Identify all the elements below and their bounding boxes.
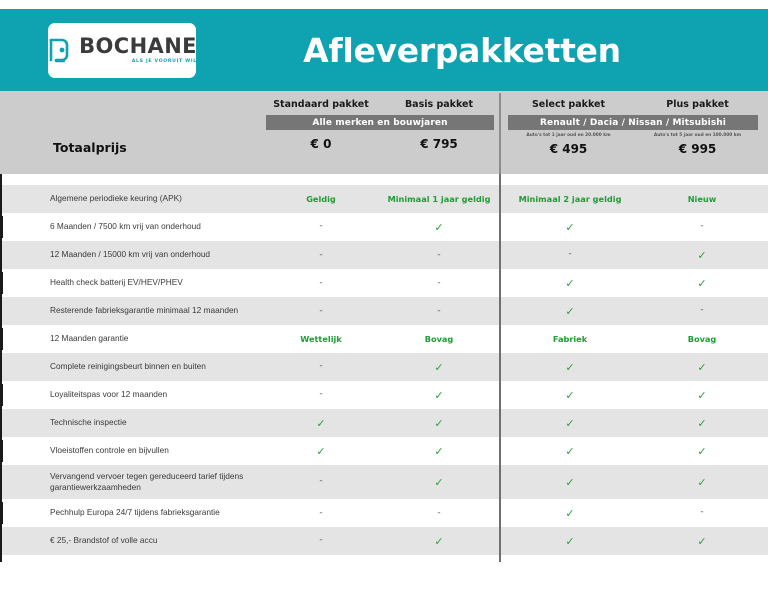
- row-cells-left-group: ✓✓: [262, 417, 498, 430]
- table-cell: -: [262, 250, 380, 260]
- table-cell: ✓: [636, 476, 768, 489]
- row-cells-right-group: ✓✓: [504, 445, 768, 458]
- table-cell: -: [262, 278, 380, 288]
- table-cell: -: [380, 306, 498, 316]
- table-row: Pechhulp Europa 24/7 tijdens fabrieksgar…: [0, 499, 768, 527]
- table-cell: -: [262, 389, 380, 402]
- row-cells-left-group: -✓: [262, 535, 498, 548]
- table-cell: -: [380, 278, 498, 288]
- table-cell: -: [262, 361, 380, 374]
- table-cell: -: [504, 249, 636, 262]
- row-label: Resterende fabrieksgarantie minimaal 12 …: [0, 305, 262, 316]
- table-cell: ✓: [504, 445, 636, 458]
- column-price-select: € 495: [504, 142, 633, 156]
- table-cell: -: [262, 535, 380, 548]
- row-cells-right-group: ✓-: [504, 305, 768, 318]
- table-group-divider: [499, 174, 501, 562]
- table-cell: ✓: [380, 389, 498, 402]
- table-cell: ✓: [636, 535, 768, 548]
- row-label: Vervangend vervoer tegen gereduceerd tar…: [0, 471, 262, 493]
- group-bar-right: Renault / Dacia / Nissan / Mitsubishi: [508, 115, 758, 130]
- column-title-plus: Plus pakket: [633, 91, 762, 110]
- row-cells-left-group: --: [262, 508, 498, 518]
- column-price-plus: € 995: [633, 142, 762, 156]
- row-cells-right-group: ✓✓: [504, 417, 768, 430]
- table-cell: -: [380, 250, 498, 260]
- row-cells-left-group: --: [262, 306, 498, 316]
- table-row: Resterende fabrieksgarantie minimaal 12 …: [0, 297, 768, 325]
- row-label: € 25,- Brandstof of volle accu: [0, 535, 262, 546]
- group-bar-left: Alle merken en bouwjaren: [266, 115, 494, 130]
- table-cell: ✓: [380, 476, 498, 489]
- table-row: Algemene periodieke keuring (APK)GeldigM…: [0, 185, 768, 213]
- table-cell: ✓: [262, 445, 380, 458]
- table-rows: Algemene periodieke keuring (APK)GeldigM…: [0, 185, 768, 555]
- table-cell: -: [262, 476, 380, 489]
- table-cell: ✓: [380, 361, 498, 374]
- table-cell: ✓: [504, 507, 636, 520]
- table-cell: -: [636, 305, 768, 318]
- column-note-select: Auto's tot 1 jaar oud en 20.000 km: [504, 133, 633, 138]
- table-cell: ✓: [504, 305, 636, 318]
- table-left-border: [0, 174, 2, 562]
- row-cells-left-group: -✓: [262, 476, 498, 489]
- afleverpakketten-page: BOCHANE ALS JE VOORUIT WIL Afleverpakket…: [0, 0, 768, 576]
- bochane-mark-icon: [47, 35, 73, 65]
- table-cell: ✓: [380, 221, 498, 234]
- features-table: Algemene periodieke keuring (APK)GeldigM…: [0, 174, 768, 562]
- row-label: Algemene periodieke keuring (APK): [0, 193, 262, 204]
- table-cell: ✓: [504, 361, 636, 374]
- table-top-spacer: [0, 174, 768, 185]
- table-cell: Bovag: [380, 334, 498, 344]
- row-cells-left-group: GeldigMinimaal 1 jaar geldig: [262, 194, 498, 204]
- header-group-divider: [499, 93, 501, 174]
- table-cell: ✓: [636, 417, 768, 430]
- table-cell: Fabriek: [504, 334, 636, 344]
- table-cell: Minimaal 2 jaar geldig: [504, 194, 636, 204]
- group-all-brands: Standaard pakket Basis pakket Alle merke…: [262, 91, 498, 174]
- table-row: 6 Maanden / 7500 km vrij van onderhoud-✓…: [0, 213, 768, 241]
- row-label: 12 Maanden / 15000 km vrij van onderhoud: [0, 249, 262, 260]
- logo-wordmark: BOCHANE: [79, 36, 197, 57]
- table-cell: ✓: [636, 249, 768, 262]
- table-cell: ✓: [262, 417, 380, 430]
- column-title-basis: Basis pakket: [380, 91, 498, 110]
- row-label: Complete reinigingsbeurt binnen en buite…: [0, 361, 262, 372]
- row-cells-left-group: ✓✓: [262, 445, 498, 458]
- table-cell: ✓: [380, 417, 498, 430]
- row-cells-left-group: -✓: [262, 361, 498, 374]
- totaalprijs-label: Totaalprijs: [53, 140, 127, 155]
- table-row: Health check batterij EV/HEV/PHEV--✓✓: [0, 269, 768, 297]
- row-label: Technische inspectie: [0, 417, 262, 428]
- table-cell: -: [262, 508, 380, 518]
- table-cell: ✓: [504, 277, 636, 290]
- row-cells-right-group: ✓-: [504, 507, 768, 520]
- table-cell: Nieuw: [636, 194, 768, 204]
- table-cell: Minimaal 1 jaar geldig: [380, 194, 498, 204]
- row-label: 12 Maanden garantie: [0, 333, 262, 344]
- table-cell: ✓: [504, 417, 636, 430]
- row-cells-right-group: ✓✓: [504, 535, 768, 548]
- column-title-standaard: Standaard pakket: [262, 91, 380, 110]
- table-cell: -: [636, 507, 768, 520]
- row-cells-left-group: --: [262, 278, 498, 288]
- table-cell: -: [380, 508, 498, 518]
- row-label: Vloeistoffen controle en bijvullen: [0, 445, 262, 456]
- row-cells-right-group: ✓✓: [504, 277, 768, 290]
- group-renault-dacia-nissan-mitsubishi: Select pakket Plus pakket Renault / Daci…: [504, 91, 762, 174]
- row-cells-right-group: -✓: [504, 249, 768, 262]
- table-cell: Geldig: [262, 194, 380, 204]
- table-row: Vervangend vervoer tegen gereduceerd tar…: [0, 465, 768, 499]
- row-label: Pechhulp Europa 24/7 tijdens fabrieksgar…: [0, 507, 262, 518]
- column-title-select: Select pakket: [504, 91, 633, 110]
- table-cell: ✓: [380, 535, 498, 548]
- table-row: 12 Maanden / 15000 km vrij van onderhoud…: [0, 241, 768, 269]
- row-cells-right-group: ✓-: [504, 221, 768, 234]
- row-label: Loyaliteitspas voor 12 maanden: [0, 389, 262, 400]
- row-label: 6 Maanden / 7500 km vrij van onderhoud: [0, 221, 262, 232]
- table-cell: -: [262, 306, 380, 316]
- row-cells-right-group: FabriekBovag: [504, 334, 768, 344]
- table-row: Vloeistoffen controle en bijvullen✓✓✓✓: [0, 437, 768, 465]
- table-cell: ✓: [504, 535, 636, 548]
- table-cell: Wettelijk: [262, 334, 380, 344]
- table-row: Complete reinigingsbeurt binnen en buite…: [0, 353, 768, 381]
- row-cells-right-group: ✓✓: [504, 389, 768, 402]
- header-banner: BOCHANE ALS JE VOORUIT WIL Afleverpakket…: [0, 9, 768, 91]
- table-cell: -: [262, 221, 380, 234]
- logo-slogan: ALS JE VOORUIT WIL: [132, 60, 197, 65]
- table-cell: ✓: [504, 221, 636, 234]
- table-cell: ✓: [504, 476, 636, 489]
- row-cells-left-group: -✓: [262, 389, 498, 402]
- table-row: 12 Maanden garantieWettelijkBovagFabriek…: [0, 325, 768, 353]
- row-cells-right-group: ✓✓: [504, 361, 768, 374]
- column-price-basis: € 795: [380, 137, 498, 151]
- column-price-standaard: € 0: [262, 137, 380, 151]
- row-cells-left-group: --: [262, 250, 498, 260]
- bochane-logo: BOCHANE ALS JE VOORUIT WIL: [48, 23, 196, 78]
- page-title: Afleverpakketten: [196, 31, 728, 70]
- column-header-band: Totaalprijs Standaard pakket Basis pakke…: [0, 91, 768, 174]
- row-label: Health check batterij EV/HEV/PHEV: [0, 277, 262, 288]
- row-cells-right-group: Minimaal 2 jaar geldigNieuw: [504, 194, 768, 204]
- table-cell: ✓: [636, 277, 768, 290]
- table-cell: ✓: [636, 445, 768, 458]
- table-bottom-spacer: [0, 555, 768, 591]
- table-row: € 25,- Brandstof of volle accu-✓✓✓: [0, 527, 768, 555]
- table-cell: ✓: [380, 445, 498, 458]
- table-cell: -: [636, 221, 768, 234]
- row-cells-right-group: ✓✓: [504, 476, 768, 489]
- table-cell: ✓: [504, 389, 636, 402]
- table-cell: Bovag: [636, 334, 768, 344]
- column-note-plus: Auto's tot 5 jaar oud en 100.000 km: [633, 133, 762, 138]
- row-cells-left-group: -✓: [262, 221, 498, 234]
- table-row: Technische inspectie✓✓✓✓: [0, 409, 768, 437]
- table-cell: ✓: [636, 361, 768, 374]
- table-cell: ✓: [636, 389, 768, 402]
- table-row: Loyaliteitspas voor 12 maanden-✓✓✓: [0, 381, 768, 409]
- row-cells-left-group: WettelijkBovag: [262, 334, 498, 344]
